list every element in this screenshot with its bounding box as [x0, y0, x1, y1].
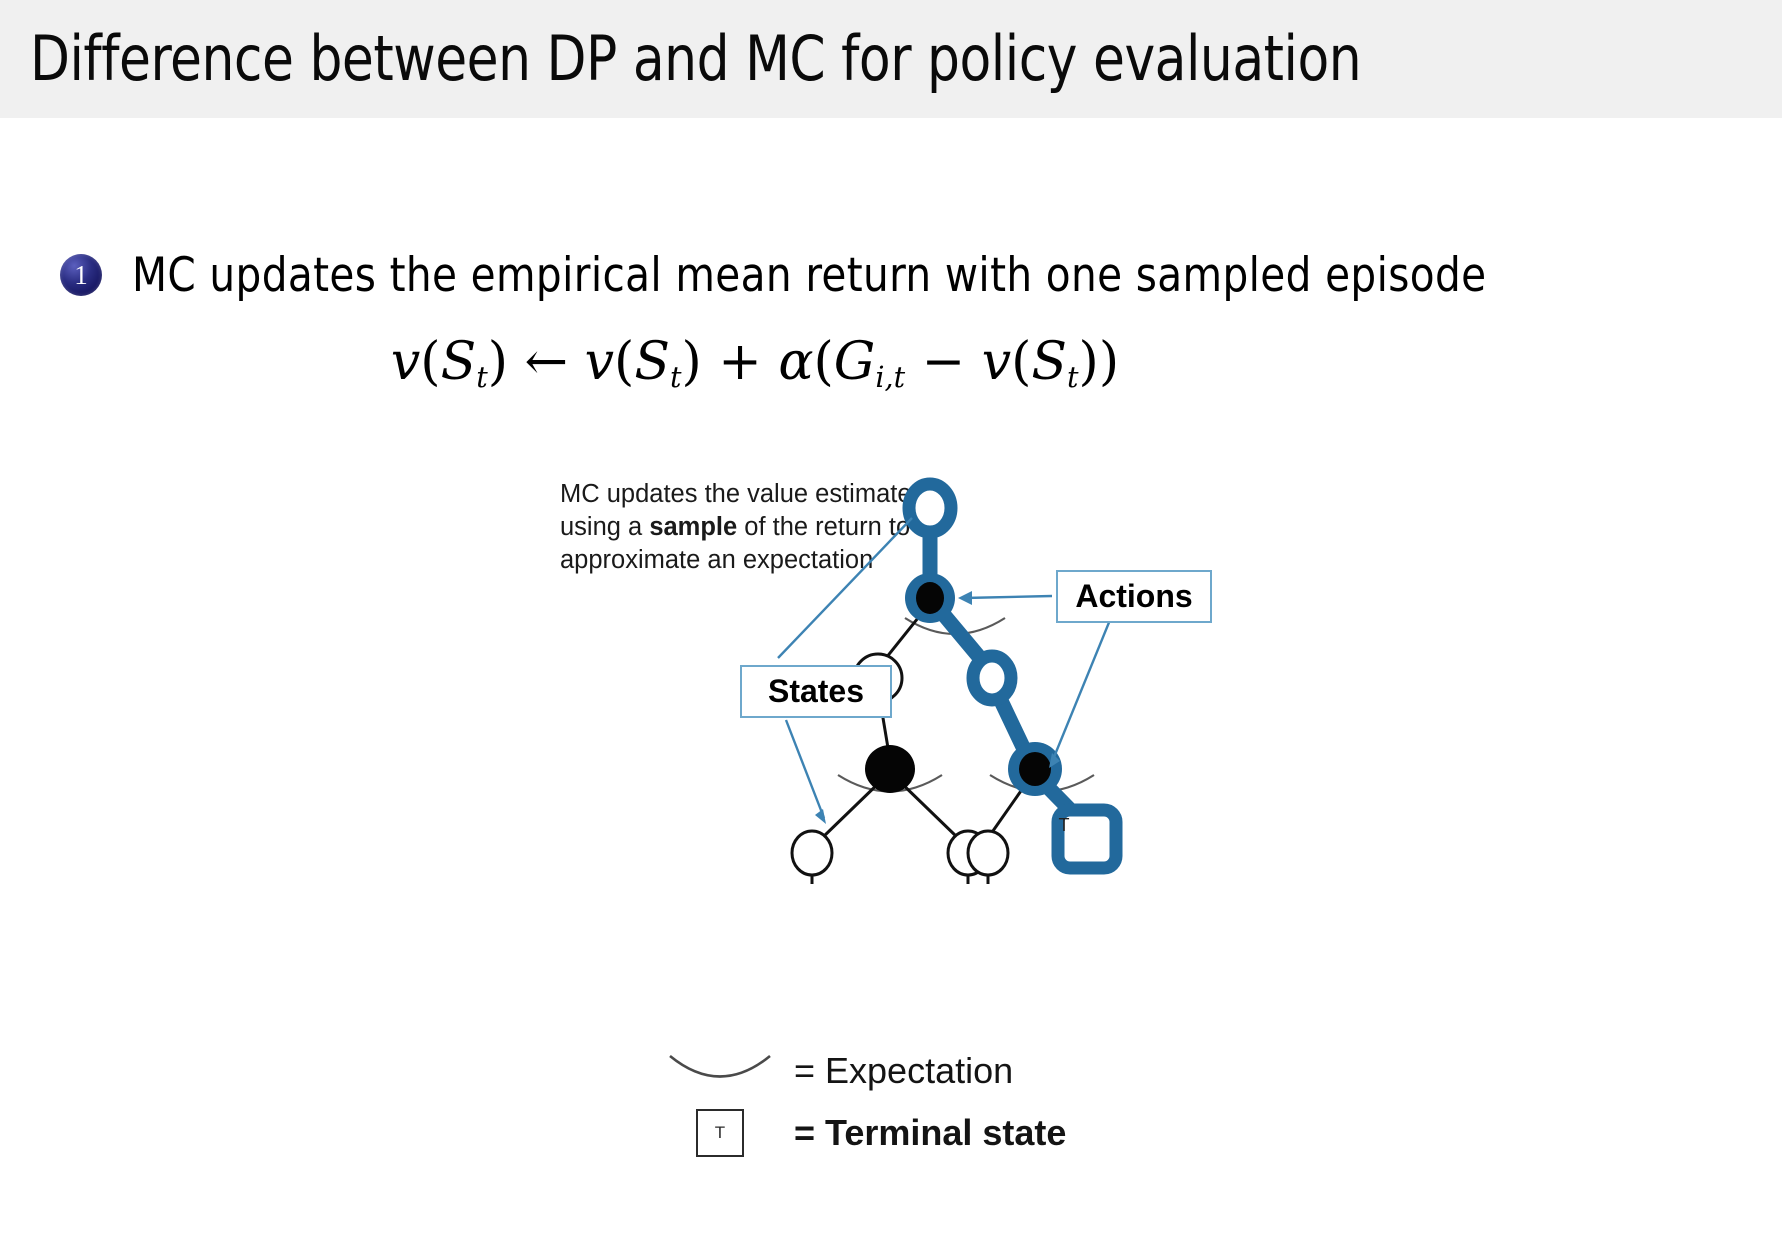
formula-S2: S	[634, 332, 670, 392]
terminal-square-letter: T	[696, 1109, 744, 1157]
node-action-right-core	[1019, 752, 1051, 786]
callout-states: States	[740, 665, 892, 718]
legend-label-expectation: = Expectation	[794, 1050, 1013, 1092]
bullet-item: 1 MC updates the empirical mean return w…	[60, 248, 1543, 303]
formula-v1: v	[391, 332, 420, 392]
formula-plus: +	[718, 332, 762, 392]
formula-close2: )	[681, 332, 701, 392]
slide-header: Difference between DP and MC for policy …	[0, 0, 1782, 118]
node-root-state	[909, 484, 951, 532]
formula-open2: (	[614, 332, 634, 392]
leader-arrowhead-actions	[958, 591, 972, 605]
leader-states-to-root	[778, 518, 912, 658]
formula-S3: S	[1031, 332, 1067, 392]
node-action-1-core	[916, 582, 944, 614]
node-action-left	[865, 745, 915, 793]
callout-actions: Actions	[1056, 570, 1212, 623]
diagram-legend: = Expectation T = Terminal state	[660, 1040, 1180, 1164]
formula-close1: )	[488, 332, 508, 392]
formula-subG: i,t	[875, 360, 905, 394]
leader-actions-to-action-right	[1052, 620, 1110, 762]
formula-minus: −	[922, 332, 966, 392]
legend-row-expectation: = Expectation	[660, 1040, 1180, 1102]
mc-backup-diagram: MC updates the value estimate using a sa…	[560, 470, 1260, 890]
leader-arrowhead-states-leaf	[815, 809, 826, 824]
formula-v2: v	[585, 332, 614, 392]
leader-actions-to-action1	[964, 596, 1052, 598]
bullet-number-badge: 1	[60, 254, 102, 296]
update-formula: v(St) ← v(St) + α(Gi,t − v(St))	[0, 332, 1510, 394]
formula-sub3: t	[1067, 360, 1079, 394]
formula-close4: )	[1079, 332, 1099, 392]
legend-row-terminal: T = Terminal state	[660, 1102, 1180, 1164]
page-title: Difference between DP and MC for policy …	[30, 22, 1361, 95]
terminal-state-letter: T	[1049, 815, 1079, 836]
formula-open3: (	[814, 332, 834, 392]
formula-open1: (	[420, 332, 440, 392]
node-leaf-state-1	[792, 831, 832, 875]
formula-arrow: ←	[525, 332, 569, 392]
backup-tree-svg	[560, 470, 1260, 890]
formula-S1: S	[441, 332, 477, 392]
node-state-right-sampled	[973, 656, 1011, 700]
bullet-text: MC updates the empirical mean return wit…	[132, 248, 1487, 303]
formula-open4: (	[1011, 332, 1031, 392]
formula-close3: )	[1099, 332, 1119, 392]
formula-alpha: α	[778, 332, 813, 392]
node-leaf-state-2	[948, 831, 988, 875]
leader-states-to-leaf	[786, 720, 824, 818]
formula-v3: v	[982, 332, 1011, 392]
expectation-arc-icon	[660, 1051, 780, 1091]
formula-G: G	[834, 332, 876, 392]
terminal-square-icon: T	[660, 1109, 780, 1157]
legend-label-terminal: = Terminal state	[794, 1112, 1066, 1154]
formula-sub1: t	[476, 360, 488, 394]
formula-sub2: t	[670, 360, 682, 394]
